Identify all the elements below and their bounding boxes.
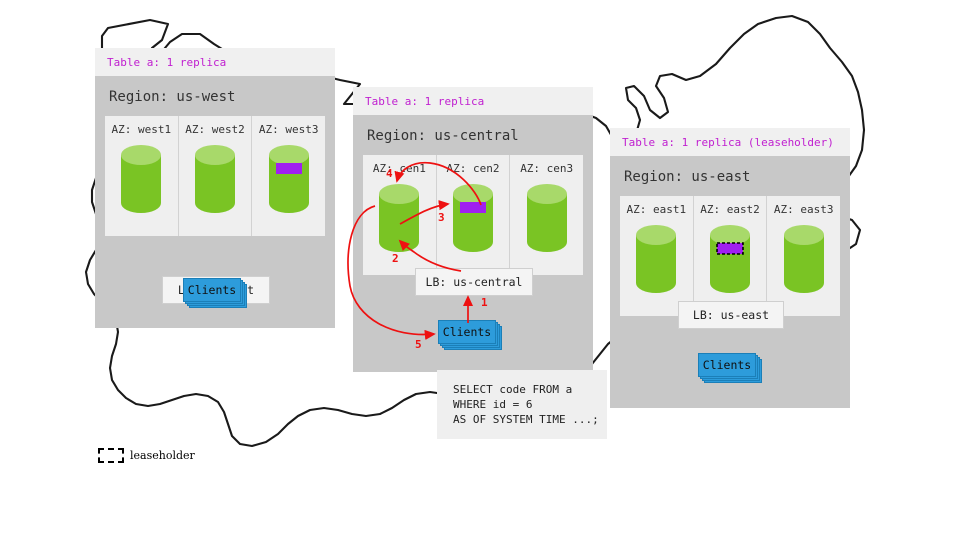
load-balancer-us-central[interactable]: LB: us-central bbox=[415, 268, 533, 296]
az-label-west3: AZ: west3 bbox=[252, 123, 325, 136]
node-cylinder-east2[interactable] bbox=[708, 223, 752, 295]
range-replica-cen2 bbox=[460, 202, 486, 213]
az-strip-us-west: AZ: west1 AZ: west2 AZ: bbox=[105, 116, 325, 236]
node-cylinder-west3[interactable] bbox=[267, 143, 311, 215]
node-cylinder-cen3[interactable] bbox=[525, 182, 569, 254]
az-panel-east2[interactable]: AZ: east2 bbox=[693, 196, 767, 316]
step-number-4: 4 bbox=[386, 167, 393, 180]
az-panel-west3[interactable]: AZ: west3 bbox=[251, 116, 325, 236]
region-header-us-central: Table a: 1 replica bbox=[353, 87, 593, 115]
az-label-cen1: AZ: cen1 bbox=[363, 162, 436, 175]
load-balancer-label-us-central: LB: us-central bbox=[426, 275, 523, 289]
az-strip-us-east: AZ: east1 AZ: east2 bbox=[620, 196, 840, 316]
step-number-5: 5 bbox=[415, 338, 422, 351]
node-cylinder-cen2[interactable] bbox=[451, 182, 495, 254]
region-panel-us-west: Table a: 1 replica Region: us-west AZ: w… bbox=[95, 48, 335, 328]
range-replica-west3 bbox=[276, 163, 302, 174]
step-number-3: 3 bbox=[438, 211, 445, 224]
step-number-2: 2 bbox=[392, 252, 399, 265]
az-panel-west1[interactable]: AZ: west1 bbox=[105, 116, 178, 236]
clients-card-front-us-west[interactable]: Clients bbox=[183, 278, 241, 302]
az-label-east3: AZ: east3 bbox=[767, 203, 840, 216]
diagram-canvas: Table a: 1 replica Region: us-west AZ: w… bbox=[0, 0, 960, 540]
load-balancer-label-us-east: LB: us-east bbox=[693, 308, 769, 322]
region-panel-us-central: Table a: 1 replica Region: us-central AZ… bbox=[353, 87, 593, 372]
az-panel-east3[interactable]: AZ: east3 bbox=[766, 196, 840, 316]
clients-label-us-east: Clients bbox=[703, 358, 751, 372]
range-replica-leaseholder-east2 bbox=[717, 243, 743, 254]
az-label-cen3: AZ: cen3 bbox=[510, 162, 583, 175]
clients-label-us-west: Clients bbox=[188, 283, 236, 297]
node-cylinder-east1[interactable] bbox=[634, 223, 678, 295]
az-panel-cen2[interactable]: AZ: cen2 bbox=[436, 155, 510, 275]
clients-stack-us-central[interactable]: Clients bbox=[438, 320, 500, 344]
clients-card-front-us-central[interactable]: Clients bbox=[438, 320, 496, 344]
region-title-us-east: Region: us-east bbox=[610, 156, 850, 196]
az-panel-cen3[interactable]: AZ: cen3 bbox=[509, 155, 583, 275]
az-label-west2: AZ: west2 bbox=[179, 123, 252, 136]
az-panel-cen1[interactable]: AZ: cen1 bbox=[363, 155, 436, 275]
clients-label-us-central: Clients bbox=[443, 325, 491, 339]
region-header-us-west: Table a: 1 replica bbox=[95, 48, 335, 76]
az-label-east1: AZ: east1 bbox=[620, 203, 693, 216]
az-label-east2: AZ: east2 bbox=[694, 203, 767, 216]
clients-stack-us-east[interactable]: Clients bbox=[698, 353, 760, 377]
sql-query-box: SELECT code FROM a WHERE id = 6 AS OF SY… bbox=[437, 370, 607, 439]
clients-card-front-us-east[interactable]: Clients bbox=[698, 353, 756, 377]
az-panel-east1[interactable]: AZ: east1 bbox=[620, 196, 693, 316]
legend: leaseholder bbox=[98, 448, 195, 463]
region-title-us-central: Region: us-central bbox=[353, 115, 593, 155]
dashed-rect-icon bbox=[98, 448, 124, 463]
node-cylinder-east3[interactable] bbox=[782, 223, 826, 295]
node-cylinder-west2[interactable] bbox=[193, 143, 237, 215]
az-label-west1: AZ: west1 bbox=[105, 123, 178, 136]
node-cylinder-west1[interactable] bbox=[119, 143, 163, 215]
load-balancer-us-east[interactable]: LB: us-east bbox=[678, 301, 784, 329]
legend-label: leaseholder bbox=[130, 449, 195, 462]
az-label-cen2: AZ: cen2 bbox=[437, 162, 510, 175]
az-panel-west2[interactable]: AZ: west2 bbox=[178, 116, 252, 236]
region-title-us-west: Region: us-west bbox=[95, 76, 335, 116]
step-number-1: 1 bbox=[481, 296, 488, 309]
node-cylinder-cen1[interactable] bbox=[377, 182, 421, 254]
clients-stack-us-west[interactable]: Clients bbox=[183, 278, 245, 302]
region-header-us-east: Table a: 1 replica (leaseholder) bbox=[610, 128, 850, 156]
region-panel-us-east: Table a: 1 replica (leaseholder) Region:… bbox=[610, 128, 850, 408]
sql-query-text: SELECT code FROM a WHERE id = 6 AS OF SY… bbox=[453, 383, 599, 426]
